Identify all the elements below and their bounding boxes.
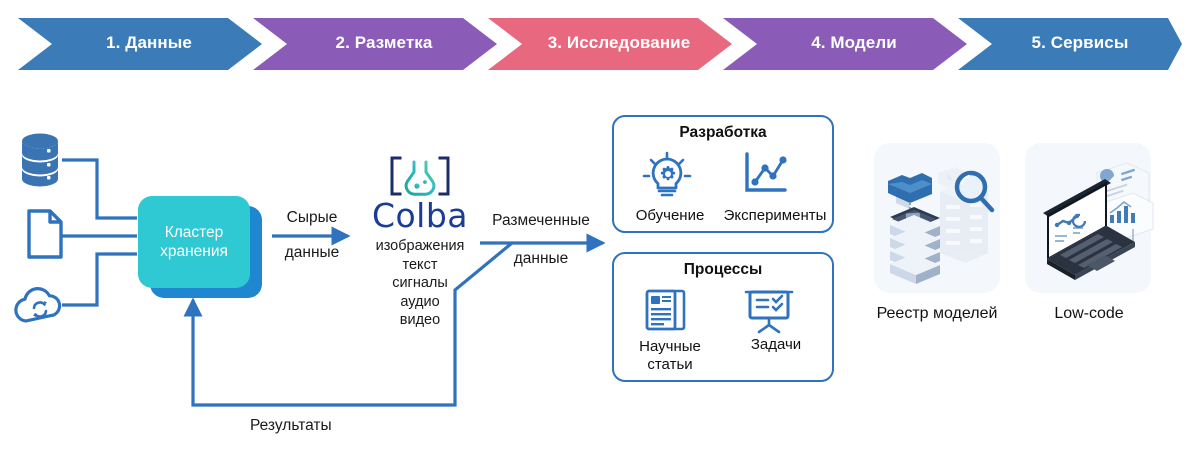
line-chart-icon	[740, 151, 792, 199]
raw-data-label-bottom: данные	[276, 244, 348, 262]
tile-low-code[interactable]	[1025, 143, 1151, 293]
lightbulb-gear-icon	[638, 150, 696, 200]
card-processy-item-0-label: Научные статьи	[618, 338, 722, 374]
labeled-data-label-bottom: данные	[479, 250, 603, 268]
colba-types-list: изображения текст сигналы аудио видео	[355, 237, 485, 330]
card-processy-title: Процессы	[614, 261, 832, 279]
colba-type-0: изображения	[355, 237, 485, 256]
document-icon	[26, 209, 64, 259]
colba-type-2: сигналы	[355, 274, 485, 293]
database-icon	[16, 132, 64, 188]
card-razrabotka-item-1-label: Эксперименты	[718, 207, 832, 225]
storage-cluster-box[interactable]: Кластер хранения	[138, 196, 250, 288]
tile-low-code-caption: Low-code	[1018, 305, 1160, 323]
tile-model-registry[interactable]	[874, 143, 1000, 293]
card-razrabotka[interactable]: Разработка Обучен	[612, 115, 834, 233]
cloud-sync-icon	[12, 283, 68, 327]
card-processy-item-1-label-real: Задачи	[720, 336, 832, 354]
colba-block: Colba изображения текст сигналы аудио ви…	[355, 155, 485, 330]
colba-type-3: аудио	[355, 293, 485, 312]
chevron-label-5: 5. Сервисы	[983, 33, 1177, 53]
colba-wordmark: Colba	[355, 199, 485, 232]
chevron-label-2: 2. Разметка	[287, 33, 481, 53]
tile-model-registry-caption: Реестр моделей	[866, 305, 1008, 323]
chevron-label-1: 1. Данные	[52, 33, 246, 53]
cluster-label-line2: хранения	[160, 242, 228, 261]
diagram-canvas: 1. Данные 2. Разметка 3. Исследование 4.…	[0, 0, 1200, 455]
card-razrabotka-item-0-label: Обучение	[620, 207, 720, 225]
feedback-results-label: Результаты	[250, 417, 332, 435]
colba-type-4: видео	[355, 311, 485, 330]
raw-data-label-top: Сырые	[281, 209, 343, 227]
chevron-label-3: 3. Исследование	[522, 33, 716, 53]
labeled-data-label-top: Размеченные	[479, 212, 603, 230]
card-razrabotka-title: Разработка	[614, 124, 832, 142]
card-processy[interactable]: Процессы	[612, 252, 834, 382]
card-processy-item-0-line1: Научные	[618, 338, 722, 356]
server-units	[890, 215, 940, 284]
presentation-checklist-icon	[742, 287, 796, 335]
colba-type-1: текст	[355, 256, 485, 275]
laptop-dashboard-icon	[1025, 143, 1151, 293]
newspaper-icon	[642, 287, 694, 335]
chevron-label-4: 4. Модели	[757, 33, 951, 53]
flask-brackets-icon	[387, 155, 453, 197]
source-connectors	[62, 160, 137, 305]
pipeline-banner: 1. Данные 2. Разметка 3. Исследование 4.…	[0, 0, 1200, 80]
cluster-label-line1: Кластер	[165, 223, 224, 242]
server-rack-icon	[874, 143, 1000, 293]
card-processy-item-0-line2: статьи	[618, 356, 722, 374]
